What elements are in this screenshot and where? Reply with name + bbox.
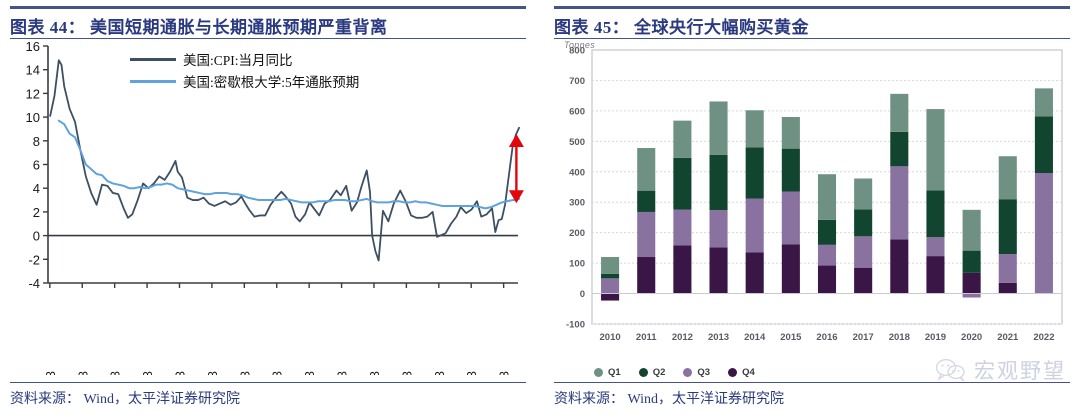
svg-text:1985-03: 1985-03 — [108, 371, 123, 375]
svg-text:2020: 2020 — [961, 332, 982, 343]
svg-text:2017: 2017 — [853, 332, 874, 343]
bar-segment — [601, 274, 619, 279]
bar-segment — [1035, 88, 1053, 116]
svg-text:0: 0 — [580, 289, 585, 300]
svg-text:2000-03: 2000-03 — [270, 371, 285, 375]
svg-text:4: 4 — [33, 181, 40, 196]
legend-item-q2[interactable]: Q2 — [639, 367, 666, 378]
bar-chart-svg: -100010020030040050060070080020102011201… — [552, 40, 1072, 358]
legend-label-q4: Q4 — [742, 367, 755, 378]
bar-segment — [673, 245, 691, 293]
bar-segment — [890, 239, 908, 293]
title-bar-right: 图表 45： 全球央行大幅购买黄金 — [554, 12, 1070, 39]
bar-segment — [818, 245, 836, 266]
line-chart-legend: 美国:CPI:当月同比 美国:密歇根大学:5年通胀预期 — [130, 48, 359, 92]
svg-text:300: 300 — [569, 198, 585, 209]
bar-chart-legend: Q1Q2Q3Q4 — [594, 367, 755, 378]
svg-text:100: 100 — [569, 259, 585, 270]
svg-text:1979-03: 1979-03 — [43, 371, 58, 375]
top-rule-right — [554, 6, 1070, 9]
bar-segment — [710, 101, 728, 154]
bar-segment — [818, 266, 836, 294]
bar-segment — [601, 257, 619, 274]
svg-text:2014: 2014 — [744, 332, 766, 343]
svg-text:14: 14 — [26, 63, 40, 78]
legend-dot-q2-icon — [639, 368, 648, 377]
watermark-text: 宏观野望 — [974, 355, 1066, 385]
legend-dot-q1-icon — [594, 368, 603, 377]
bar-segment — [890, 94, 908, 132]
bar-segment — [637, 148, 655, 191]
svg-text:2016: 2016 — [816, 332, 837, 343]
svg-text:6: 6 — [33, 158, 40, 173]
svg-text:2021-03: 2021-03 — [497, 371, 512, 375]
svg-text:2015-03: 2015-03 — [432, 371, 447, 375]
bar-segment — [673, 121, 691, 158]
svg-text:600: 600 — [569, 106, 585, 117]
svg-text:2012: 2012 — [672, 332, 693, 343]
svg-text:8: 8 — [33, 134, 40, 149]
page-title-right: 图表 45： 全球央行大幅购买黄金 — [554, 13, 809, 38]
bar-segment — [963, 210, 981, 251]
bar-segment — [673, 210, 691, 246]
legend-item-q4[interactable]: Q4 — [728, 367, 755, 378]
bar-segment — [1035, 116, 1053, 173]
legend-dot-q4-icon — [728, 368, 737, 377]
legend-item-expectation: 美国:密歇根大学:5年通胀预期 — [130, 70, 359, 92]
svg-text:2022: 2022 — [1033, 332, 1054, 343]
bar-segment — [963, 294, 981, 298]
svg-text:1997-03: 1997-03 — [237, 371, 252, 375]
bar-segment — [963, 273, 981, 294]
source-note-left: 资料来源： Wind，太平洋证券研究院 — [10, 384, 240, 408]
bar-segment — [637, 212, 655, 257]
bar-segment — [890, 166, 908, 239]
legend-item-q1[interactable]: Q1 — [594, 367, 621, 378]
bar-segment — [854, 210, 872, 237]
svg-text:2012-03: 2012-03 — [399, 371, 414, 375]
svg-text:200: 200 — [569, 228, 585, 239]
panel-figure-44: 图表 44： 美国短期通胀与长期通胀预期严重背离 -4-202468101214… — [0, 0, 536, 417]
bar-chart: Tonnes -10001002003004005006007008002010… — [552, 40, 1072, 380]
svg-text:500: 500 — [569, 137, 585, 148]
figure-page: 图表 44： 美国短期通胀与长期通胀预期严重背离 -4-202468101214… — [0, 0, 1080, 417]
legend-label-q1: Q1 — [608, 367, 621, 378]
bar-segment — [890, 132, 908, 166]
svg-text:2: 2 — [33, 205, 40, 220]
watermark: 宏观野望 — [935, 355, 1066, 385]
svg-text:1991-03: 1991-03 — [172, 371, 187, 375]
svg-text:2011: 2011 — [636, 332, 657, 343]
wechat-bubble-icon — [935, 358, 969, 382]
bar-segment — [601, 294, 619, 301]
units-label: Tonnes — [564, 40, 595, 50]
svg-text:0: 0 — [33, 229, 40, 244]
svg-text:2015: 2015 — [780, 332, 802, 343]
bar-segment — [963, 251, 981, 273]
bar-segment — [854, 236, 872, 267]
svg-text:12: 12 — [26, 86, 40, 101]
bar-segment — [746, 252, 764, 293]
svg-text:-100: -100 — [566, 320, 585, 331]
bar-segment — [782, 244, 800, 293]
legend-label-q3: Q3 — [697, 367, 710, 378]
bar-segment — [710, 247, 728, 293]
svg-text:2018: 2018 — [889, 332, 910, 343]
bar-segment — [710, 210, 728, 247]
bar-segment — [637, 191, 655, 212]
bar-segment — [601, 278, 619, 293]
divergence-arrow — [509, 134, 524, 203]
svg-text:1982-03: 1982-03 — [75, 371, 90, 375]
panel-figure-45: 图表 45： 全球央行大幅购买黄金 Tonnes -10001002003004… — [544, 0, 1080, 417]
legend-swatch-cpi — [130, 58, 176, 61]
svg-text:1988-03: 1988-03 — [140, 371, 155, 375]
svg-text:400: 400 — [569, 167, 585, 178]
bar-segment — [782, 192, 800, 245]
bar-segment — [854, 178, 872, 209]
source-note-right: 资料来源： Wind，太平洋证券研究院 — [554, 384, 784, 408]
footer-bar-left: 资料来源： Wind，太平洋证券研究院 — [10, 382, 526, 409]
line-chart: -4-202468101214161979-031982-031985-0319… — [10, 40, 526, 375]
bar-segment — [673, 158, 691, 210]
svg-text:2018-03: 2018-03 — [464, 371, 479, 375]
svg-text:10: 10 — [26, 110, 40, 125]
bar-segment — [999, 254, 1017, 283]
legend-item-q3[interactable]: Q3 — [683, 367, 710, 378]
legend-dot-q3-icon — [683, 368, 692, 377]
svg-text:2021: 2021 — [997, 332, 1019, 343]
bar-segment — [926, 190, 944, 237]
bar-segment — [782, 117, 800, 149]
svg-text:2009-03: 2009-03 — [367, 371, 382, 375]
bar-segment — [637, 257, 655, 294]
legend-item-cpi: 美国:CPI:当月同比 — [130, 48, 359, 70]
svg-text:1994-03: 1994-03 — [205, 371, 220, 375]
bar-segment — [746, 110, 764, 147]
legend-label-q2: Q2 — [653, 367, 666, 378]
svg-text:2019: 2019 — [925, 332, 946, 343]
bar-segment — [999, 283, 1017, 294]
bar-segment — [926, 109, 944, 190]
svg-text:2013: 2013 — [708, 332, 729, 343]
svg-text:-4: -4 — [28, 276, 40, 291]
bar-segment — [818, 220, 836, 245]
svg-text:2010: 2010 — [600, 332, 621, 343]
bar-segment — [782, 149, 800, 192]
bar-segment — [926, 256, 944, 293]
svg-text:-2: -2 — [28, 252, 40, 267]
bar-segment — [926, 237, 944, 256]
svg-text:700: 700 — [569, 76, 585, 87]
bar-segment — [1035, 173, 1053, 294]
page-title-left: 图表 44： 美国短期通胀与长期通胀预期严重背离 — [10, 13, 388, 38]
footer-bar-right: 资料来源： Wind，太平洋证券研究院 — [554, 382, 1070, 409]
bar-segment — [818, 174, 836, 220]
svg-text:16: 16 — [26, 40, 40, 54]
bar-segment — [746, 199, 764, 253]
title-bar-left: 图表 44： 美国短期通胀与长期通胀预期严重背离 — [10, 12, 526, 39]
top-rule-left — [10, 6, 526, 9]
bar-segment — [999, 156, 1017, 199]
bar-segment — [710, 155, 728, 210]
bar-segment — [746, 147, 764, 198]
svg-text:2006-03: 2006-03 — [335, 371, 350, 375]
svg-text:2003-03: 2003-03 — [302, 371, 317, 375]
bar-segment — [854, 268, 872, 294]
legend-swatch-expectation — [130, 80, 176, 83]
legend-label-cpi: 美国:CPI:当月同比 — [183, 49, 293, 69]
legend-label-expectation: 美国:密歇根大学:5年通胀预期 — [183, 71, 359, 91]
bar-segment — [999, 199, 1017, 254]
